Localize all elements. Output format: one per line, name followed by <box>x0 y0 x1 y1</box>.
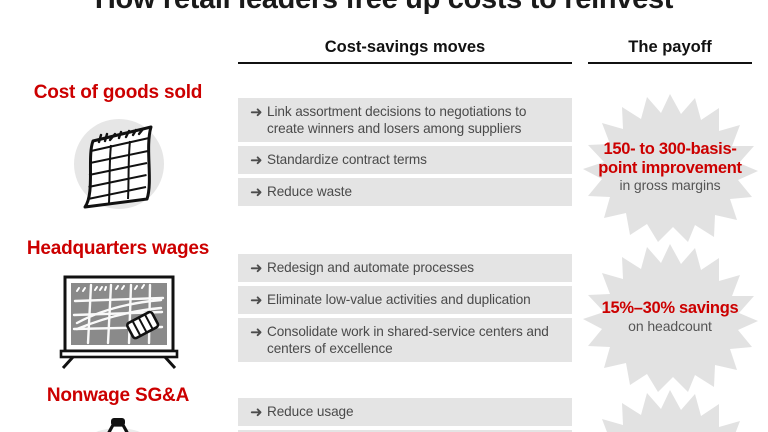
row-cost-of-goods-sold: Cost of goods sold <box>0 74 768 230</box>
starburst-shape-icon <box>582 388 758 432</box>
chalkboard-icon <box>0 264 236 374</box>
list-item-label: Eliminate low-value activities and dupli… <box>267 291 562 308</box>
list-item[interactable]: ➜ Reduce waste <box>238 178 572 206</box>
row-headquarters-wages: Headquarters wages <box>0 230 768 382</box>
list-item-label: Redesign and automate processes <box>267 259 562 276</box>
list-item-label: Link assortment decisions to negotiation… <box>267 103 562 137</box>
payoff-cost-of-goods-sold: 150- to 300-basis-point improvement in g… <box>582 92 758 242</box>
arrow-bullet-icon: ➜ <box>250 260 267 277</box>
category-label-cost-of-goods-sold: Cost of goods sold <box>0 82 236 104</box>
category-label-headquarters-wages: Headquarters wages <box>0 238 236 260</box>
payoff-headquarters-wages: 15%–30% savings on headcount <box>582 242 758 392</box>
list-item-label: Reduce waste <box>267 183 562 200</box>
arrow-bullet-icon: ➜ <box>250 324 267 341</box>
arrow-bullet-icon: ➜ <box>250 152 267 169</box>
arrow-bullet-icon: ➜ <box>250 184 267 201</box>
list-item[interactable]: ➜ Link assortment decisions to negotiati… <box>238 98 572 142</box>
starburst-badge: 150- to 300-basis-point improvement in g… <box>582 92 758 242</box>
page-title: How retail leaders free up costs to rein… <box>0 0 768 16</box>
list-item[interactable]: ➜ Consolidate work in shared-service cen… <box>238 318 572 362</box>
payoff-headline: 150- to 300-basis-point improvement <box>588 140 753 177</box>
column-header-cost-savings-moves: Cost-savings moves <box>238 38 572 64</box>
infographic-page: How retail leaders free up costs to rein… <box>0 0 768 432</box>
list-item-label: Consolidate work in shared-service cente… <box>267 323 562 357</box>
starburst-badge: 15%–30% savings on headcount <box>582 242 758 392</box>
column-header-the-payoff: The payoff <box>588 38 752 64</box>
lamp-icon <box>0 410 236 432</box>
payoff-nonwage-sga: 8%–12% <box>582 388 758 432</box>
payoff-headline: 15%–30% savings <box>588 299 753 317</box>
moves-list-nonwage-sga: ➜ Reduce usage <box>238 398 572 432</box>
category-label-nonwage-sga: Nonwage SG&A <box>0 385 236 407</box>
list-item-label: Reduce usage <box>267 403 562 420</box>
list-item[interactable]: ➜ Standardize contract terms <box>238 146 572 174</box>
arrow-bullet-icon: ➜ <box>250 292 267 309</box>
list-item-label: Standardize contract terms <box>267 151 562 168</box>
payoff-subtext: in gross margins <box>588 178 753 194</box>
arrow-bullet-icon: ➜ <box>250 104 267 121</box>
starburst-badge: 8%–12% <box>582 388 758 432</box>
invoice-document-icon <box>0 106 236 216</box>
row-nonwage-sga: Nonwage SG&A ➜ Reduce usage <box>0 382 768 432</box>
moves-list-cost-of-goods-sold: ➜ Link assortment decisions to negotiati… <box>238 98 572 210</box>
moves-list-headquarters-wages: ➜ Redesign and automate processes ➜ Elim… <box>238 254 572 366</box>
list-item[interactable]: ➜ Redesign and automate processes <box>238 254 572 282</box>
list-item[interactable]: ➜ Eliminate low-value activities and dup… <box>238 286 572 314</box>
list-item[interactable]: ➜ Reduce usage <box>238 398 572 426</box>
payoff-subtext: on headcount <box>588 319 753 335</box>
arrow-bullet-icon: ➜ <box>250 404 267 421</box>
